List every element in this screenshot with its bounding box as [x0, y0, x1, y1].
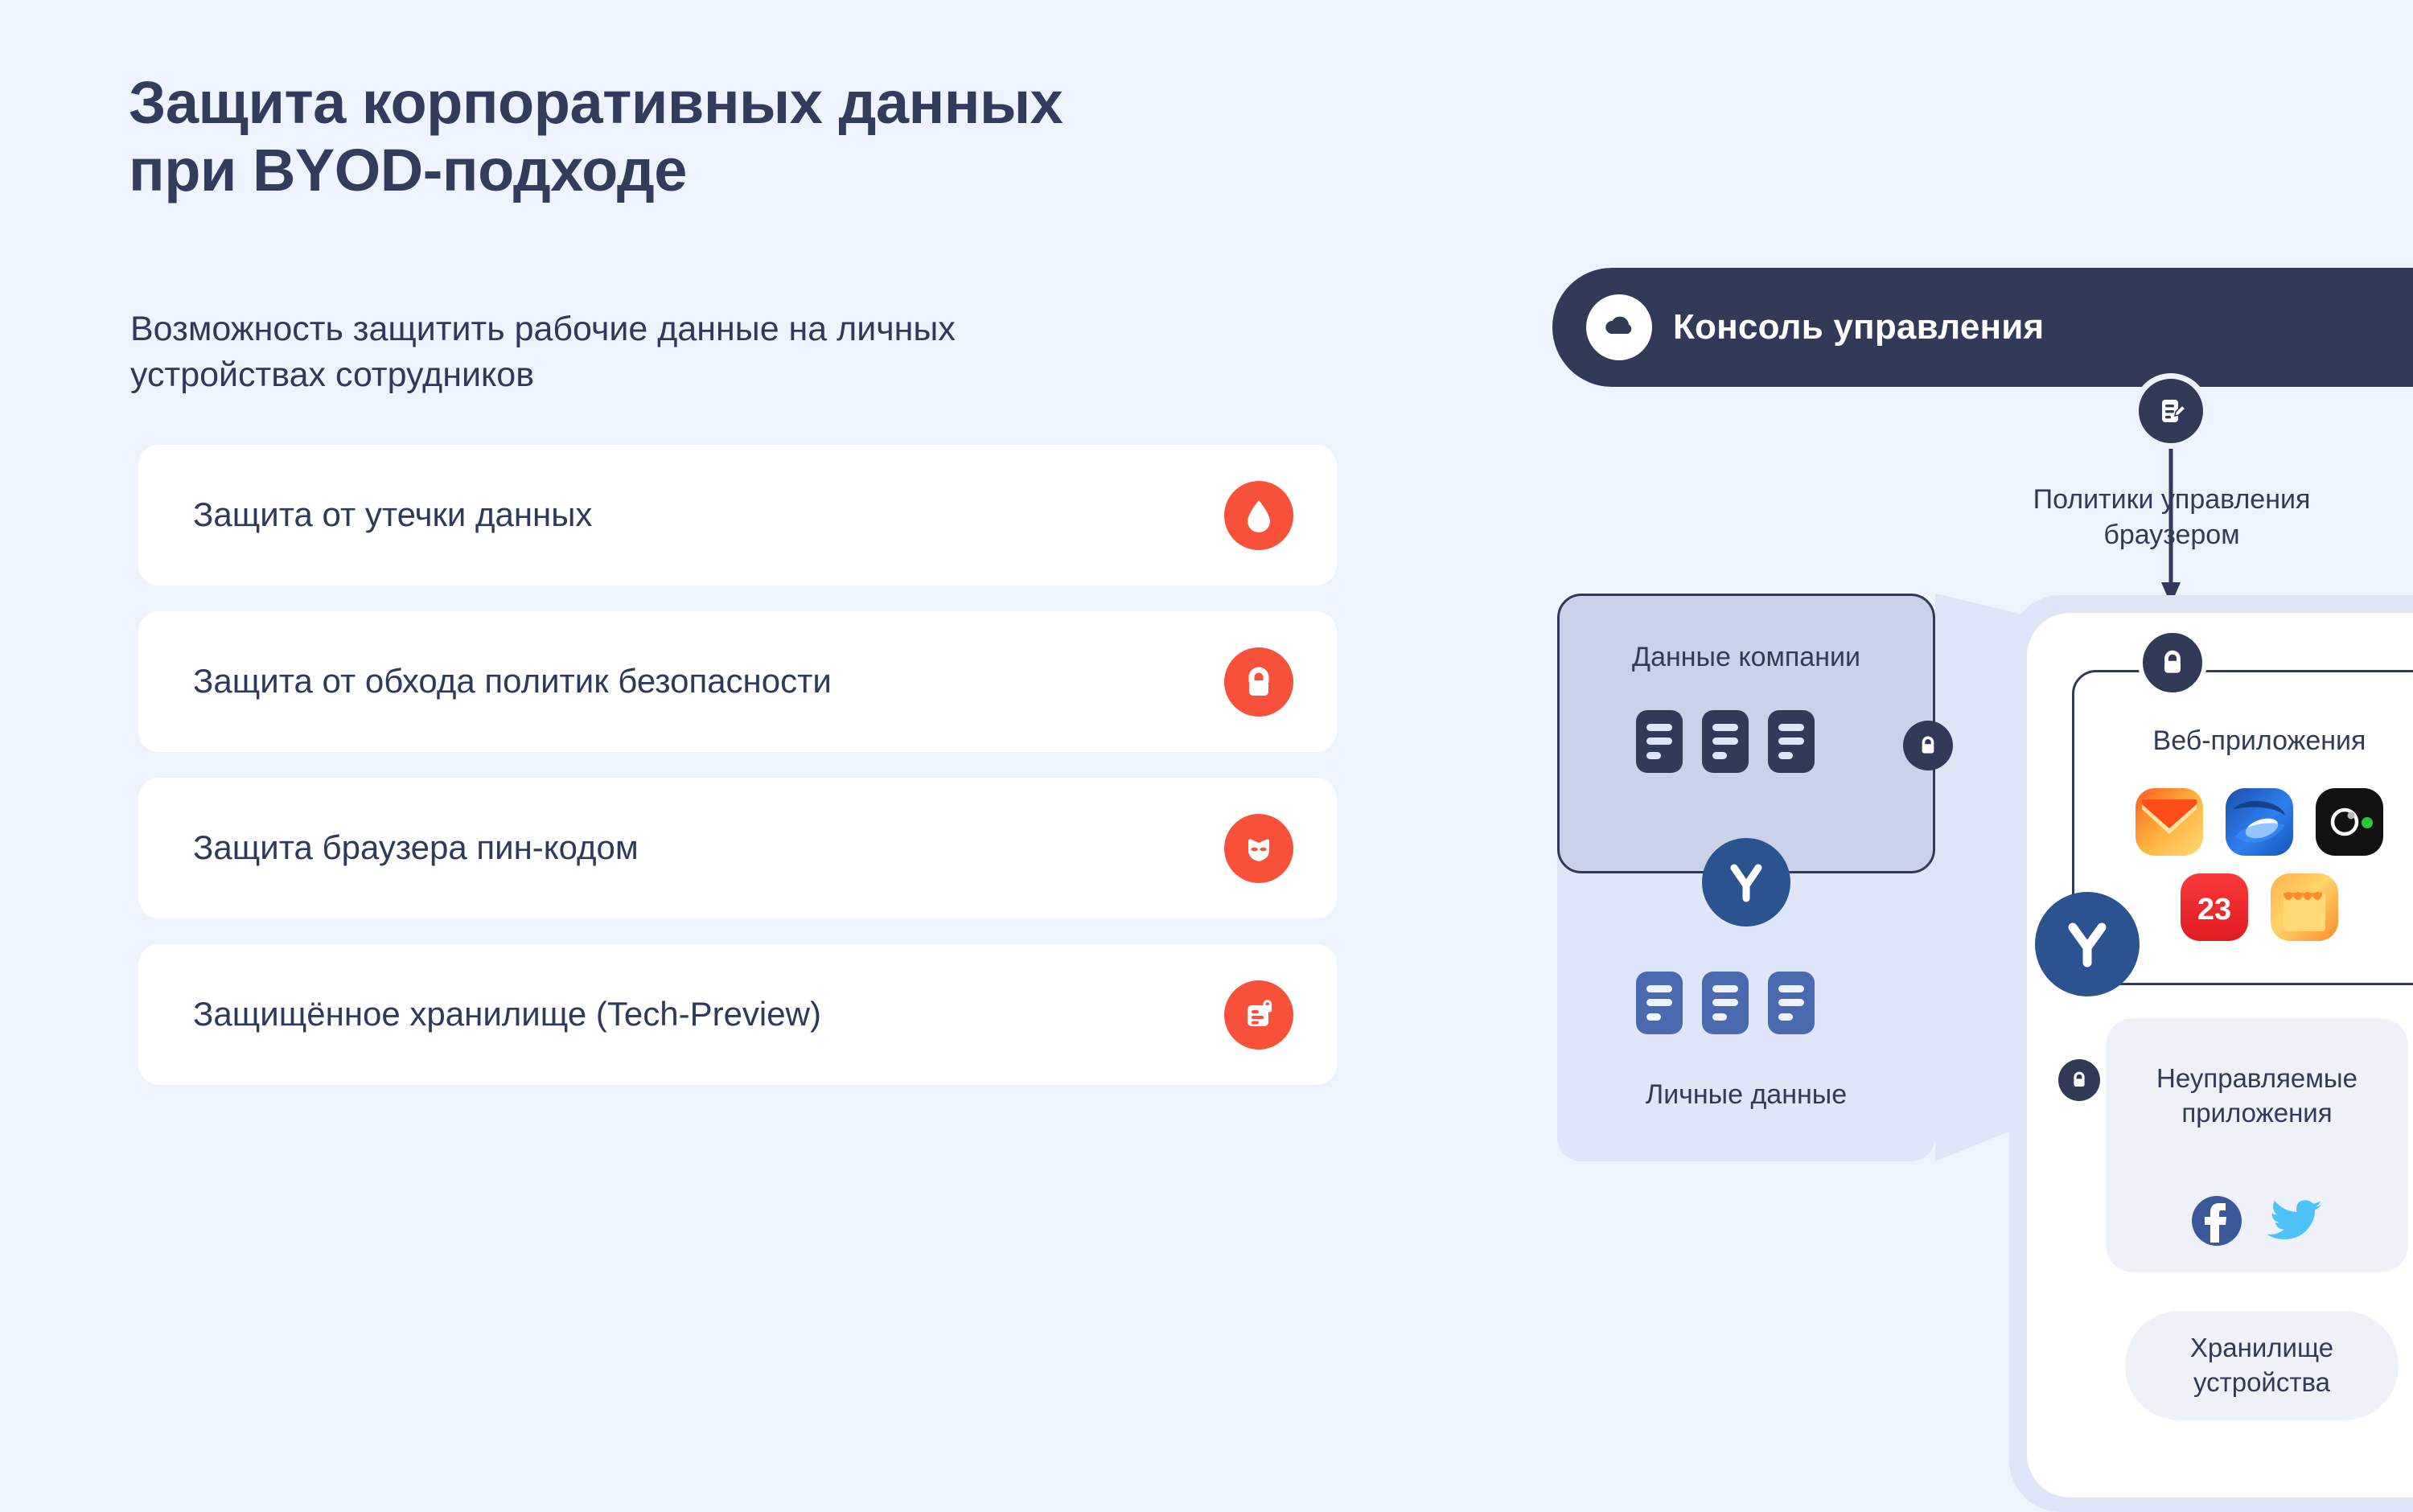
unmanaged-apps-icons [2106, 1190, 2408, 1251]
telemost-app-icon[interactable] [2316, 788, 2383, 856]
feature-list: Защита от утечки данных Защита от обхода… [138, 445, 1337, 1111]
feature-card-policy-bypass[interactable]: Защита от обхода политик безопасности [138, 611, 1337, 752]
server-icon [1702, 710, 1749, 773]
yandex-browser-icon [1702, 838, 1790, 927]
byod-architecture-diagram: Консоль управления Политики управления б… [1528, 241, 2413, 1130]
twitter-icon[interactable] [2266, 1190, 2327, 1251]
device-storage-chip: Хранилище устройства [2125, 1311, 2399, 1420]
page-title: Защита корпоративных данных при BYOD-под… [129, 69, 1335, 205]
notes-app-icon[interactable] [2271, 873, 2338, 941]
hero-column: Защита корпоративных данных при BYOD-под… [129, 0, 1383, 1130]
lock-icon [2138, 628, 2207, 697]
management-console-title: Консоль управления [1673, 307, 2044, 347]
yandex-browser-icon [2035, 892, 2140, 996]
policy-label: Политики управления браузером [1930, 483, 2413, 553]
lock-icon [1903, 721, 1953, 770]
server-icon [1636, 710, 1683, 773]
feature-card-data-leak[interactable]: Защита от утечки данных [138, 445, 1337, 585]
personal-data-caption: Личные данные [1557, 1079, 1935, 1111]
server-icon [1636, 972, 1683, 1034]
server-icon [1702, 972, 1749, 1034]
personal-server-icons [1636, 972, 1815, 1034]
calendar-day-number: 23 [2197, 893, 2231, 927]
padlock-icon [1224, 647, 1293, 717]
page-subtitle: Возможность защитить рабочие данные на л… [130, 306, 1385, 398]
feature-label: Защита от обхода политик безопасности [193, 661, 1224, 701]
document-edit-icon [2133, 373, 2209, 449]
management-console-bar[interactable]: Консоль управления [1552, 268, 2413, 387]
webapps-caption: Веб-приложения [2072, 725, 2413, 757]
company-server-icons [1636, 710, 1815, 773]
droplet-icon [1224, 481, 1293, 550]
server-icon [1768, 972, 1815, 1034]
feature-label: Защита браузера пин-кодом [193, 828, 1224, 868]
unmanaged-apps-caption: Неуправляемые приложения [2106, 1062, 2408, 1131]
cloud-icon [1586, 294, 1652, 360]
mail-app-icon[interactable] [2136, 788, 2203, 856]
feature-label: Защита от утечки данных [193, 495, 1224, 535]
document-lock-icon [1224, 980, 1293, 1050]
app-row [2072, 788, 2413, 856]
lock-icon [2058, 1059, 2100, 1101]
disk-app-icon[interactable] [2226, 788, 2293, 856]
calendar-app-icon[interactable]: 23 [2181, 873, 2248, 941]
company-data-caption: Данные компании [1557, 642, 1935, 673]
mask-icon [1224, 814, 1293, 883]
facebook-icon[interactable] [2187, 1191, 2247, 1251]
feature-label: Защищённое хранилище (Tech-Preview) [193, 994, 1224, 1034]
server-icon [1768, 710, 1815, 773]
feature-card-pin-lock[interactable]: Защита браузера пин-кодом [138, 778, 1337, 918]
feature-card-secure-storage[interactable]: Защищённое хранилище (Tech-Preview) [138, 944, 1337, 1085]
